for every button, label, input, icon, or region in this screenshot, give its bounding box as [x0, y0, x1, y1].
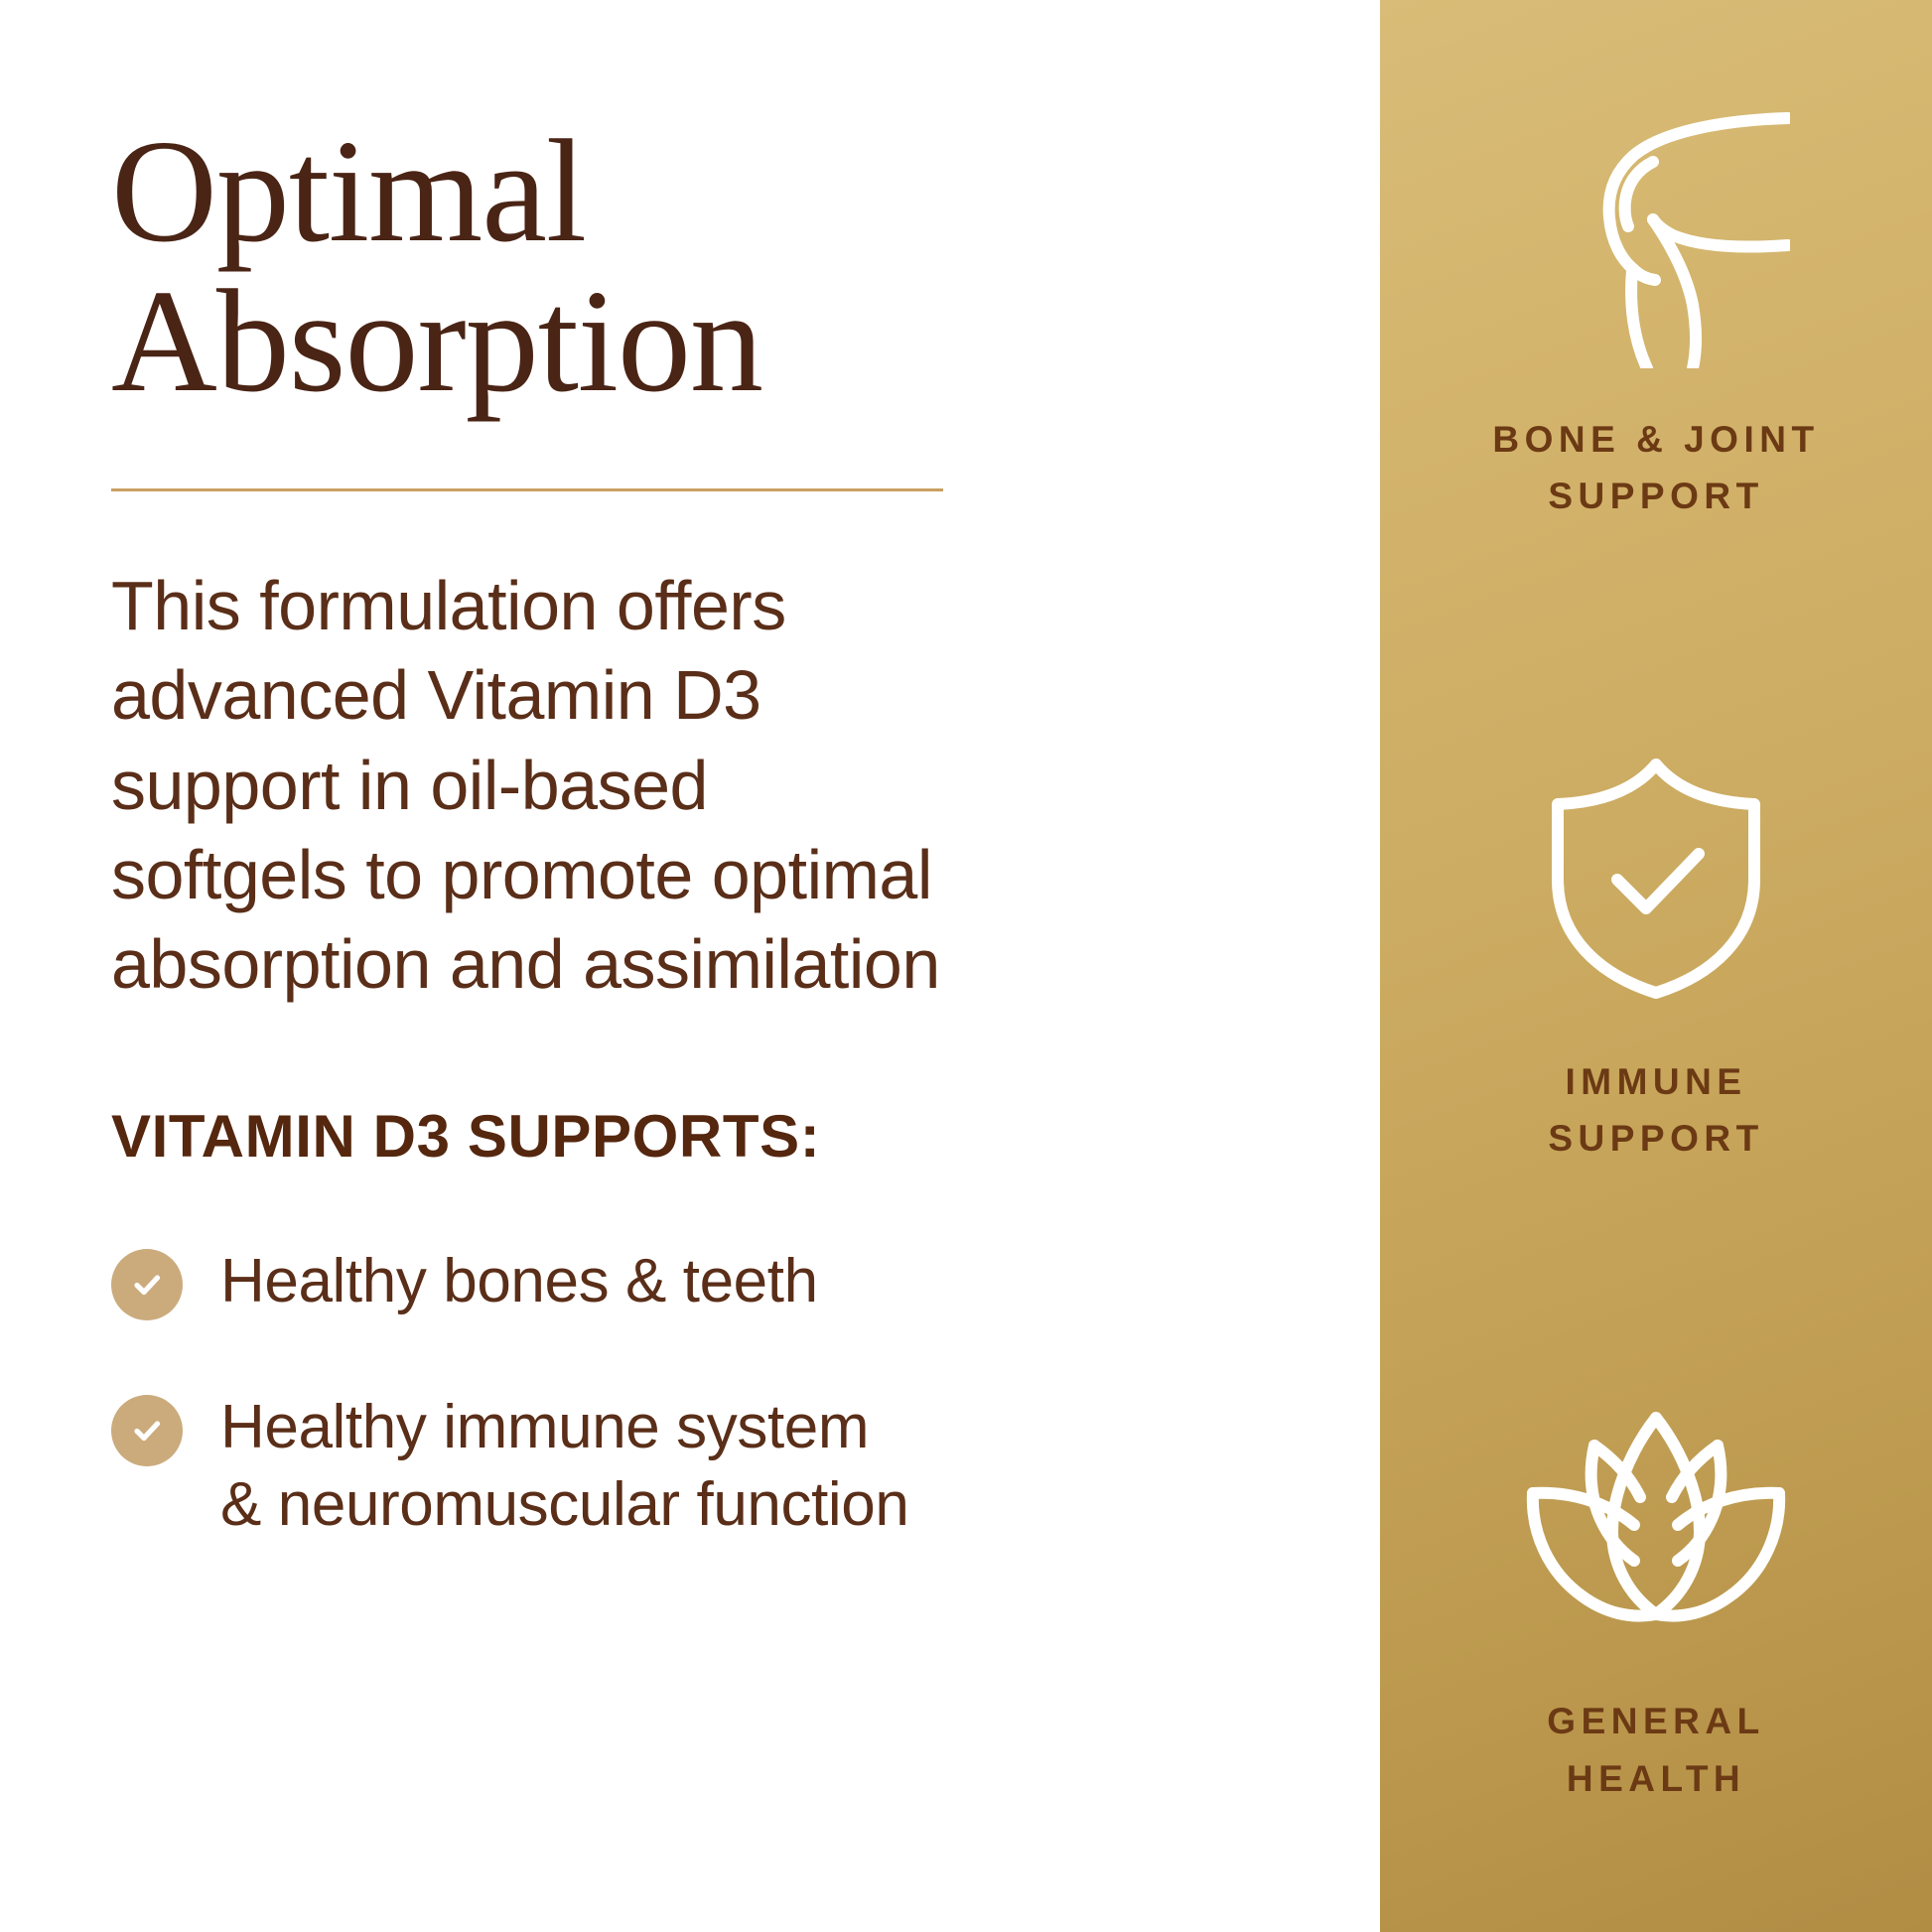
gold-divider [111, 488, 943, 491]
list-item: Healthy bones & teeth [111, 1243, 1380, 1320]
feature-label: GENERAL HEALTH [1547, 1693, 1764, 1807]
left-content-panel: Optimal Absorption This formulation offe… [0, 0, 1380, 1932]
supports-heading: VITAMIN D3 SUPPORTS: [111, 1104, 1380, 1170]
list-item: Healthy immune system & neuromuscular fu… [111, 1389, 1380, 1544]
page-title: Optimal Absorption [111, 117, 1104, 417]
check-circle-icon [111, 1395, 183, 1466]
feature-general-health: GENERAL HEALTH [1380, 1377, 1932, 1807]
benefits-list: Healthy bones & teeth Healthy immune sys… [111, 1243, 1380, 1543]
feature-immune: IMMUNE SUPPORT [1380, 738, 1932, 1168]
knee-joint-icon [1522, 95, 1790, 373]
feature-label: BONE & JOINT SUPPORT [1492, 411, 1819, 525]
promo-card: Optimal Absorption This formulation offe… [0, 0, 1932, 1932]
feature-label: IMMUNE SUPPORT [1548, 1053, 1763, 1168]
feature-bone-joint: BONE & JOINT SUPPORT [1380, 95, 1932, 525]
lotus-flower-icon [1517, 1377, 1795, 1655]
list-item-label: Healthy bones & teeth [220, 1243, 818, 1320]
shield-check-icon [1542, 738, 1770, 1016]
intro-paragraph: This formulation offers advanced Vitamin… [111, 561, 945, 1009]
check-circle-icon [111, 1249, 183, 1320]
feature-sidebar: BONE & JOINT SUPPORT IMMUNE SUPPORT [1380, 0, 1932, 1932]
list-item-label: Healthy immune system & neuromuscular fu… [220, 1389, 908, 1544]
